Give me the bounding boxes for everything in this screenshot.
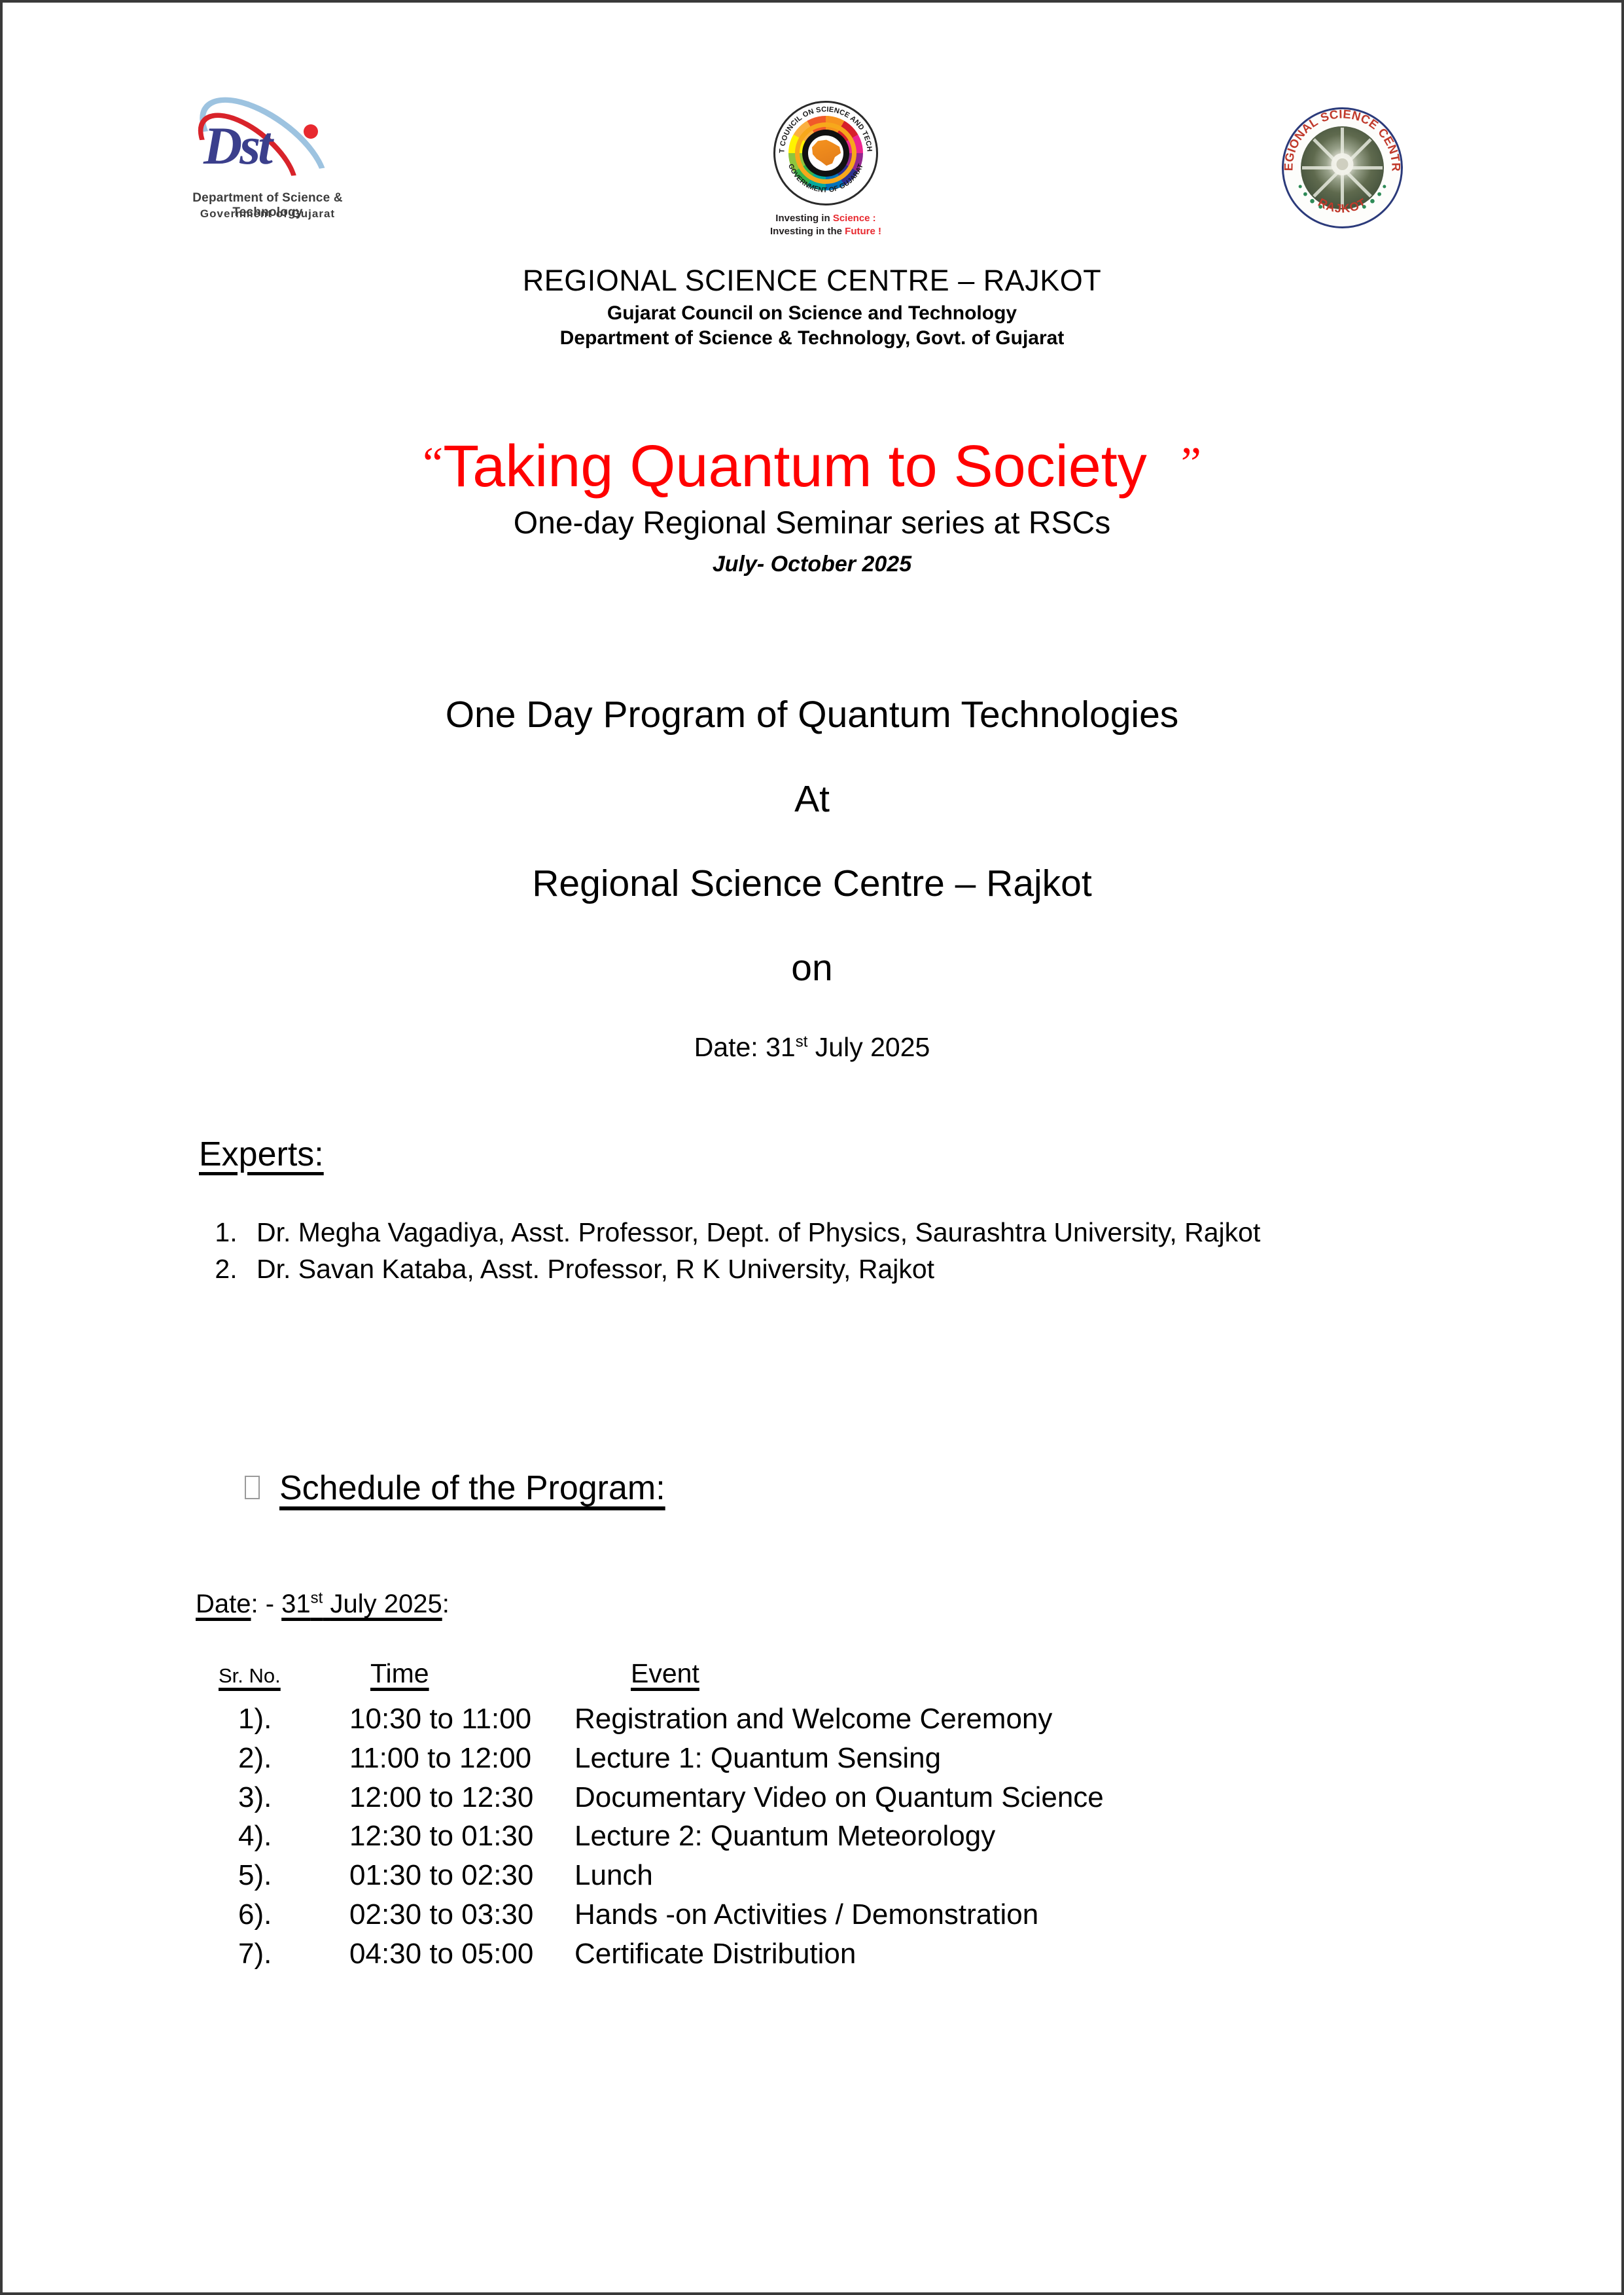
cell-event: Registration and Welcome Ceremony [559,1699,1508,1739]
gujcost-tagline-line2: Investing in the Future ! [757,225,894,238]
cell-sr: 1). [199,1699,336,1739]
cell-time: 10:30 to 11:00 [336,1699,559,1739]
cell-time: 04:30 to 05:00 [336,1934,559,1974]
gujcost-ring-top-text: GUJARAT COUNCIL ON SCIENCE AND TECHNOLOG… [775,103,874,153]
experts-list: Dr. Megha Vagadiya, Asst. Professor, Dep… [199,1215,1508,1287]
program-block: One Day Program of Quantum Technologies … [3,696,1621,1061]
table-row: 2). 11:00 to 12:00 Lecture 1: Quantum Se… [199,1739,1508,1778]
cell-time: 11:00 to 12:00 [336,1739,559,1778]
banner-dates: July- October 2025 [3,552,1621,577]
quote-open: “ [423,438,443,489]
column-header-time: Time [336,1658,559,1699]
gujcost-seal: GUJARAT COUNCIL ON SCIENCE AND TECHNOLOG… [773,101,878,205]
table-row: 1). 10:30 to 11:00 Registration and Welc… [199,1699,1508,1739]
cell-event: Documentary Video on Quantum Science [559,1778,1508,1817]
gujcost-ring-text: GUJARAT COUNCIL ON SCIENCE AND TECHNOLOG… [775,103,876,204]
cell-time: 12:30 to 01:30 [336,1817,559,1856]
dst-wordmark: Dst [203,119,270,173]
schedule-date-day: 31 [281,1590,311,1618]
banner-subtitle: One-day Regional Seminar series at RSCs [3,505,1621,543]
schedule-table: Sr. No. Time Event 1). 10:30 to 11:00 Re… [199,1658,1508,1974]
tagline2-plain: Investing in the [770,226,845,237]
schedule-date-colon: : [442,1590,450,1618]
table-row: 3). 12:00 to 12:30 Documentary Video on … [199,1778,1508,1817]
cell-event: Hands -on Activities / Demonstration [559,1895,1508,1934]
schedule-table-header: Sr. No. Time Event [199,1658,1508,1699]
program-line-title: One Day Program of Quantum Technologies [3,696,1621,734]
cell-event: Certificate Distribution [559,1934,1508,1974]
experts-heading: Experts: [199,1135,1508,1174]
dst-logo-mark: Dst [169,114,366,189]
schedule-heading: Schedule of the Program: [279,1468,665,1508]
banner: “Taking Quantum to Society” One-day Regi… [3,435,1621,577]
organisation-header: REGIONAL SCIENCE CENTRE – RAJKOT Gujarat… [3,264,1621,350]
dst-caption-government: Government of Gujarat [169,207,366,221]
cell-event: Lunch [559,1856,1508,1895]
logo-row: Dst Department of Science & Technology G… [3,101,1621,264]
table-row: 5). 01:30 to 02:30 Lunch [199,1856,1508,1895]
svg-text:REGIONAL SCIENCE CENTRE: REGIONAL SCIENCE CENTRE [1284,109,1401,171]
schedule-date-ordinal: st [311,1590,323,1607]
org-subtitle-council: Gujarat Council on Science and Technolog… [3,301,1621,326]
program-date-rest: July 2025 [815,1032,930,1062]
cell-event: Lecture 1: Quantum Sensing [559,1739,1508,1778]
schedule-date-rest: July 2025 [330,1590,442,1618]
program-date-label: Date: [694,1032,758,1062]
program-date-ordinal: st [796,1033,808,1050]
gujcost-tagline: Investing in Science : Investing in the … [757,212,894,239]
rsc-seal: REGIONAL SCIENCE CENTRE RAJKOT [1282,107,1403,228]
table-header-row: Sr. No. Time Event [199,1658,1508,1699]
svg-text:GOVERNMENT OF GUJARAT: GOVERNMENT OF GUJARAT [786,162,865,194]
document-page: Dst Department of Science & Technology G… [0,0,1624,2295]
svg-text:GUJARAT COUNCIL ON SCIENCE AND: GUJARAT COUNCIL ON SCIENCE AND TECHNOLOG… [775,103,874,153]
dst-logo: Dst Department of Science & Technology G… [169,114,366,232]
gujcost-tagline-line1: Investing in Science : [757,212,894,225]
column-header-sr-no: Sr. No. [199,1658,336,1699]
program-date-day: 31 [766,1032,796,1062]
tagline1-plain: Investing in [775,213,833,224]
regional-science-centre-logo: REGIONAL SCIENCE CENTRE RAJKOT [1282,107,1406,232]
cell-time: 02:30 to 03:30 [336,1895,559,1934]
table-row: 7). 04:30 to 05:00 Certificate Distribut… [199,1934,1508,1974]
cell-event: Lecture 2: Quantum Meteorology [559,1817,1508,1856]
schedule-date-value: 31st July 2025 [281,1590,442,1618]
cell-sr: 5). [199,1856,336,1895]
cell-sr: 2). [199,1739,336,1778]
schedule-heading-row: Schedule of the Program: [245,1468,665,1508]
program-line-venue: Regional Science Centre – Rajkot [3,865,1621,902]
cell-sr: 7). [199,1934,336,1974]
cell-sr: 4). [199,1817,336,1856]
program-line-at: At [3,781,1621,818]
cell-sr: 6). [199,1895,336,1934]
schedule-table-body: 1). 10:30 to 11:00 Registration and Welc… [199,1699,1508,1974]
cell-time: 01:30 to 02:30 [336,1856,559,1895]
schedule-date-line: Date: - 31st July 2025: [196,1590,450,1619]
svg-text:RAJKOT: RAJKOT [1316,195,1369,215]
rsc-ring-bottom-text: RAJKOT [1316,195,1369,215]
list-item: Dr. Savan Kataba, Asst. Professor, R K U… [245,1251,1508,1287]
org-title: REGIONAL SCIENCE CENTRE – RAJKOT [3,264,1621,297]
table-row: 4). 12:30 to 01:30 Lecture 2: Quantum Me… [199,1817,1508,1856]
schedule-date-separator: : - [251,1590,282,1618]
list-item: Dr. Megha Vagadiya, Asst. Professor, Dep… [245,1215,1508,1250]
schedule-date-label: Date [196,1590,251,1618]
cell-time: 12:00 to 12:30 [336,1778,559,1817]
tagline2-highlight: Future ! [845,226,881,237]
cell-sr: 3). [199,1778,336,1817]
banner-title-text: Taking Quantum to Society [443,434,1147,499]
banner-title: “Taking Quantum to Society” [3,435,1621,499]
table-row: 6). 02:30 to 03:30 Hands -on Activities … [199,1895,1508,1934]
org-subtitle-department: Department of Science & Technology, Govt… [3,326,1621,351]
rsc-ring-text: REGIONAL SCIENCE CENTRE RAJKOT [1284,109,1401,226]
empty-box-bullet-icon [245,1476,260,1499]
rsc-ring-top-text: REGIONAL SCIENCE CENTRE [1284,109,1401,171]
gujcost-logo: GUJARAT COUNCIL ON SCIENCE AND TECHNOLOG… [757,101,894,251]
quote-close: ” [1181,438,1201,489]
program-line-on: on [3,950,1621,987]
dst-red-dot-icon [304,124,318,139]
tagline1-highlight: Science : [833,213,876,224]
experts-section: Experts: Dr. Megha Vagadiya, Asst. Profe… [199,1135,1508,1288]
gujcost-ring-bottom-text: GOVERNMENT OF GUJARAT [786,162,865,194]
program-date: Date: 31st July 2025 [3,1034,1621,1061]
column-header-event: Event [559,1658,1508,1699]
